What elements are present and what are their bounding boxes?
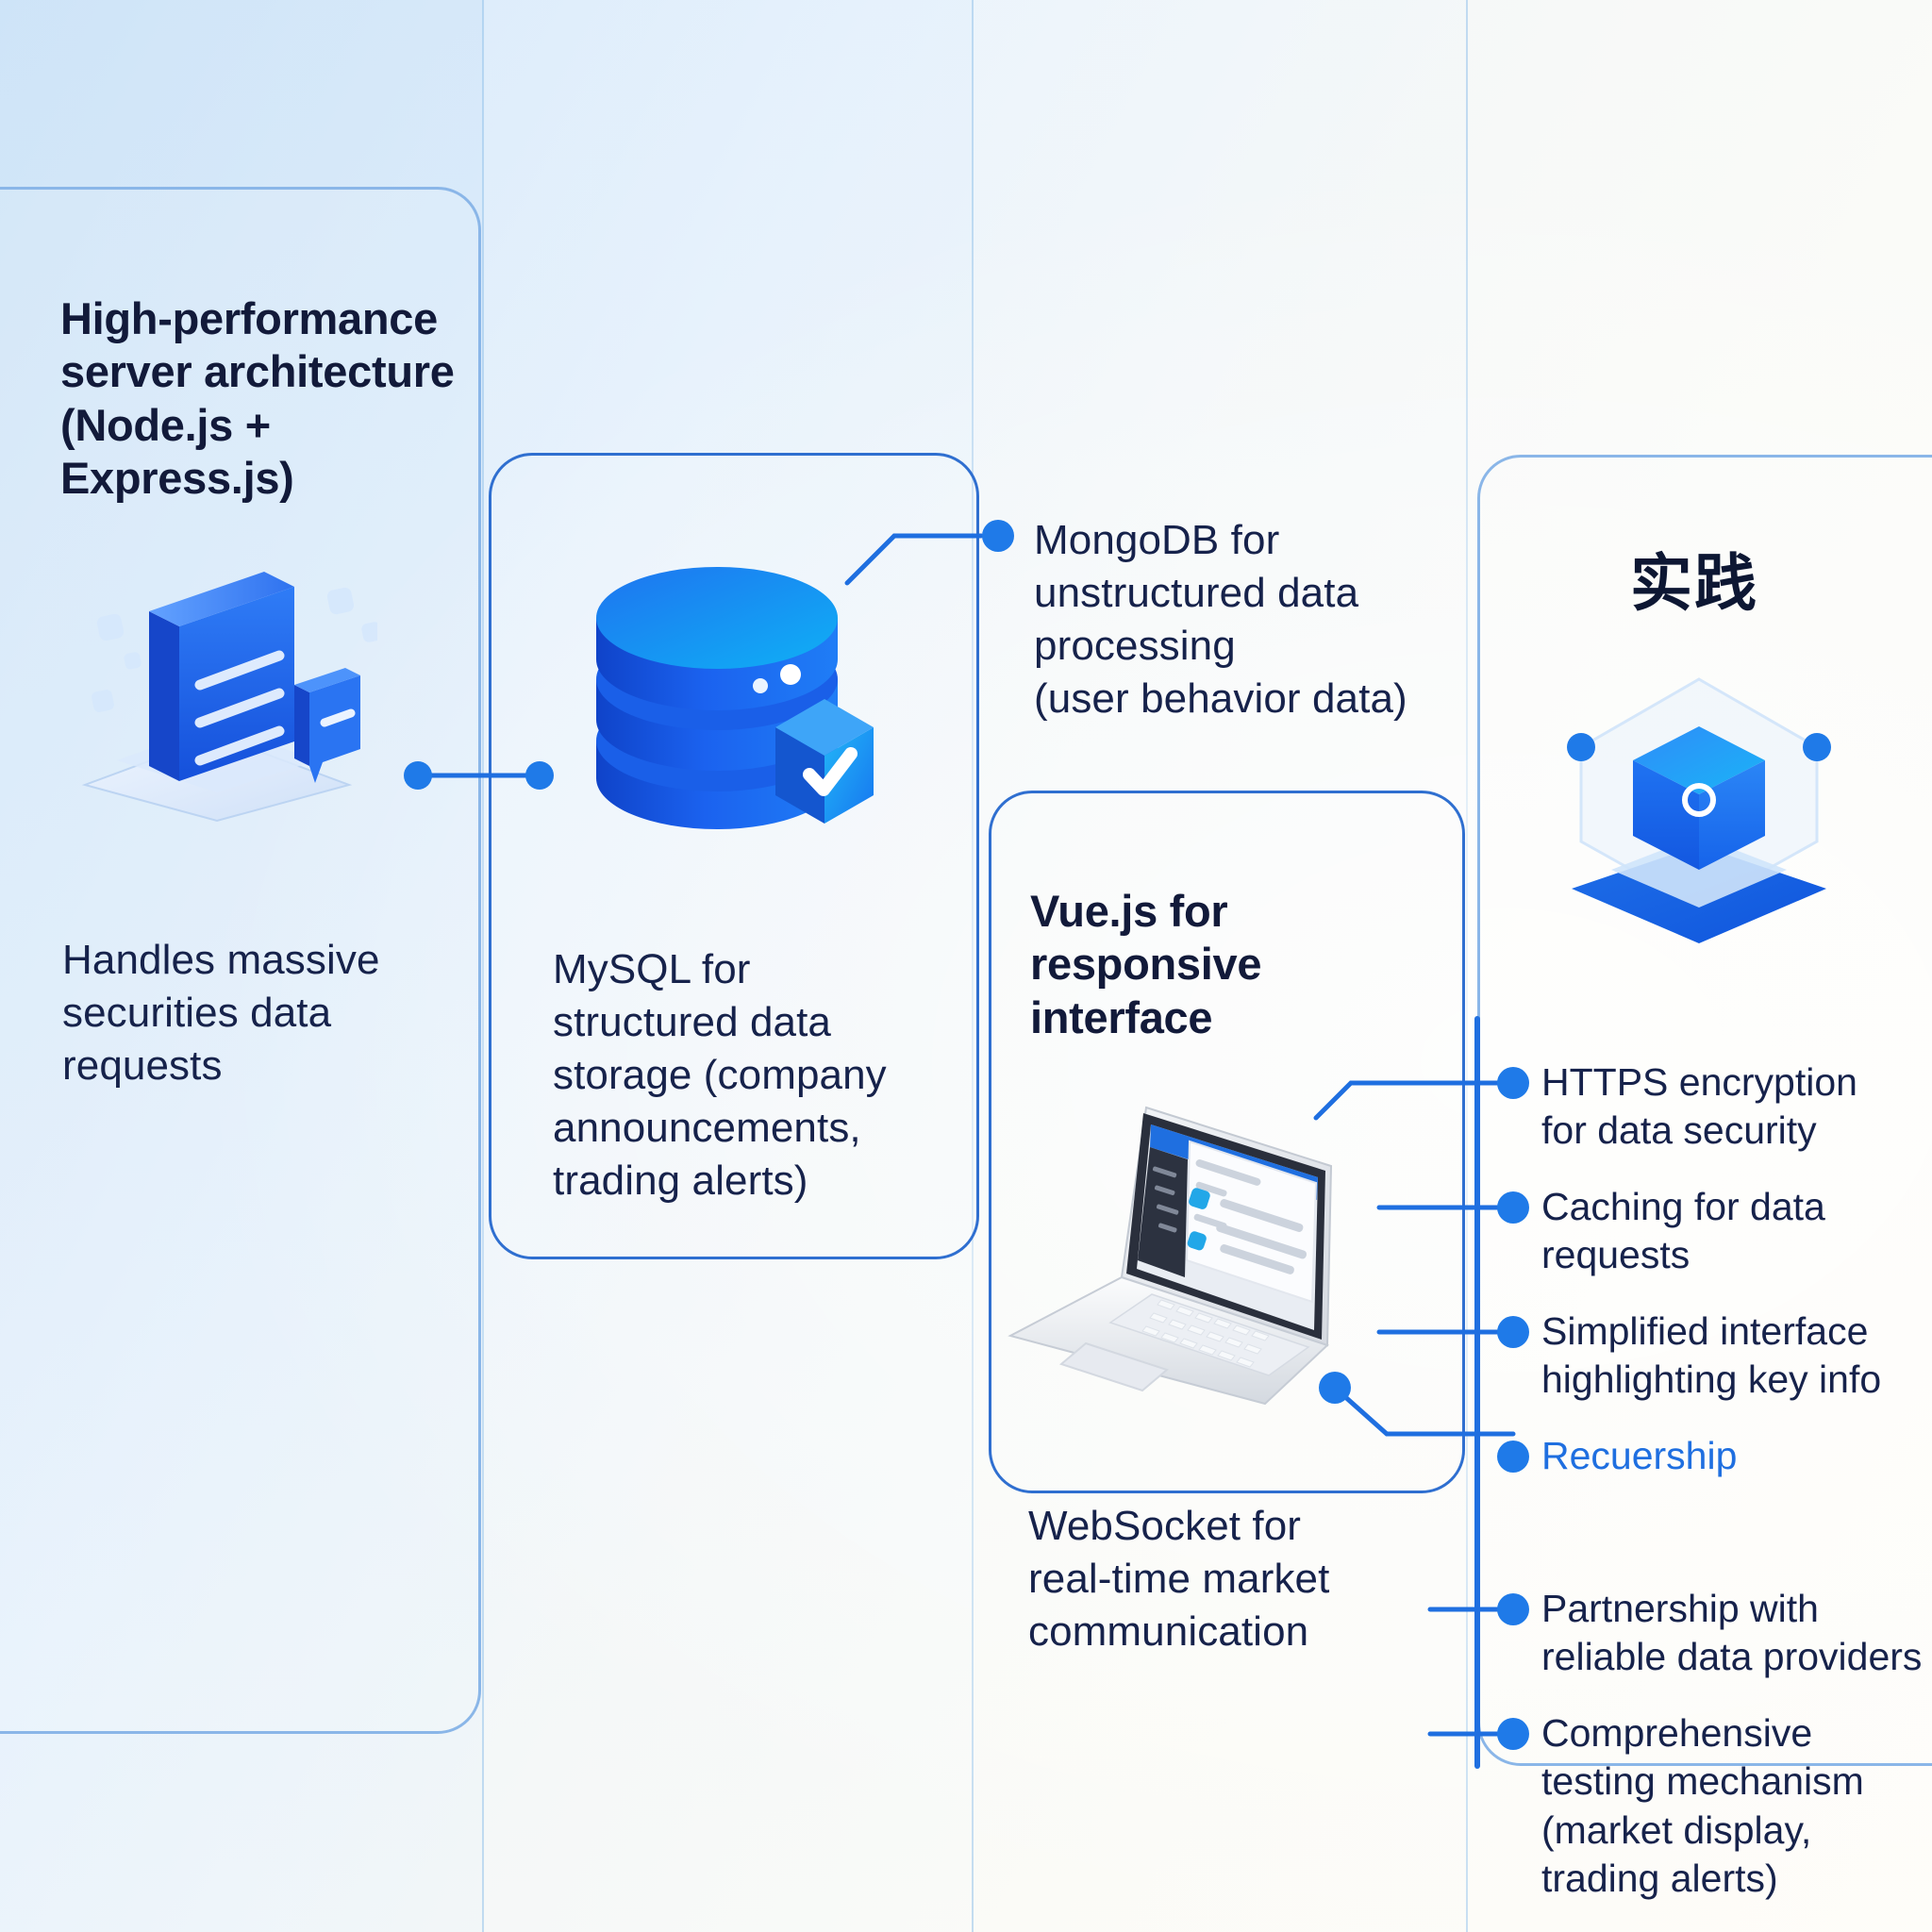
bullet-item-2: Caching for data requests <box>1541 1183 1919 1280</box>
isometric-server-icon <box>57 509 377 830</box>
database-caption-line-4: announcements, <box>553 1102 949 1155</box>
bullet-item-6: Comprehensive testing mechanism (market … <box>1541 1709 1919 1903</box>
bullet-item-3: Simplified interface highlighting key in… <box>1541 1307 1932 1405</box>
bullet-2-line-2: requests <box>1541 1231 1919 1279</box>
server-caption: Handles massive securities data requests <box>62 934 440 1092</box>
mongodb-callout-line-4: (user behavior data) <box>1034 673 1430 725</box>
database-caption-line-3: storage (company <box>553 1049 949 1102</box>
database-caption-line-2: structured data <box>553 996 949 1049</box>
server-heading: High-performance server architecture (No… <box>60 292 466 506</box>
frontend-caption-line-1: WebSocket for <box>1028 1500 1406 1553</box>
bullet-6-line-2: testing mechanism <box>1541 1757 1919 1806</box>
frontend-caption-line-3: communication <box>1028 1606 1406 1658</box>
frontend-heading-line-2: responsive interface <box>1030 938 1445 1044</box>
server-heading-line-2: server architecture <box>60 345 466 398</box>
mongodb-callout: MongoDB for unstructured data processing… <box>1034 514 1430 725</box>
database-cylinder-icon <box>557 542 887 854</box>
frontend-caption: WebSocket for real-time market communica… <box>1028 1500 1406 1658</box>
frontend-heading-line-1: Vue.js for <box>1030 885 1445 938</box>
bullet-3-line-2: highlighting key info <box>1541 1356 1932 1404</box>
bullet-1-line-2: for data security <box>1541 1107 1919 1155</box>
bullet-5-line-2: reliable data providers <box>1541 1633 1932 1681</box>
bullet-item-4: Recuership <box>1541 1432 1919 1480</box>
bullet-4-line-1: Recuership <box>1541 1432 1919 1480</box>
server-heading-line-3: (Node.js + Express.js) <box>60 399 466 506</box>
bullet-5-line-1: Partnership with <box>1541 1585 1932 1633</box>
bullet-6-line-4: trading alerts) <box>1541 1855 1919 1903</box>
bullet-3-line-1: Simplified interface <box>1541 1307 1932 1356</box>
server-heading-line-1: High-performance <box>60 292 466 345</box>
bullet-6-line-3: (market display, <box>1541 1807 1919 1855</box>
database-caption-line-5: trading alerts) <box>553 1155 949 1207</box>
server-caption-line-3: requests <box>62 1040 440 1092</box>
server-caption-line-1: Handles massive <box>62 934 440 987</box>
database-caption-line-1: MySQL for <box>553 943 949 996</box>
mongodb-callout-line-1: MongoDB for <box>1034 514 1430 567</box>
isometric-cube-icon <box>1543 660 1855 972</box>
bullet-item-1: HTTPS encryption for data security <box>1541 1058 1919 1156</box>
bullet-item-5: Partnership with reliable data providers <box>1541 1585 1932 1682</box>
diagram-canvas: High-performance server architecture (No… <box>0 0 1932 1932</box>
frontend-heading: Vue.js for responsive interface <box>1030 885 1445 1044</box>
practice-title: 实践 <box>1630 533 1758 624</box>
bullet-1-line-1: HTTPS encryption <box>1541 1058 1919 1107</box>
server-caption-line-2: securities data <box>62 987 440 1040</box>
bullet-6-line-1: Comprehensive <box>1541 1709 1919 1757</box>
laptop-icon <box>995 1075 1391 1415</box>
frontend-caption-line-2: real-time market <box>1028 1553 1406 1606</box>
bullet-2-line-1: Caching for data <box>1541 1183 1919 1231</box>
mongodb-callout-line-2: unstructured data <box>1034 567 1430 620</box>
mongodb-callout-line-3: processing <box>1034 620 1430 673</box>
database-caption: MySQL for structured data storage (compa… <box>553 943 949 1207</box>
